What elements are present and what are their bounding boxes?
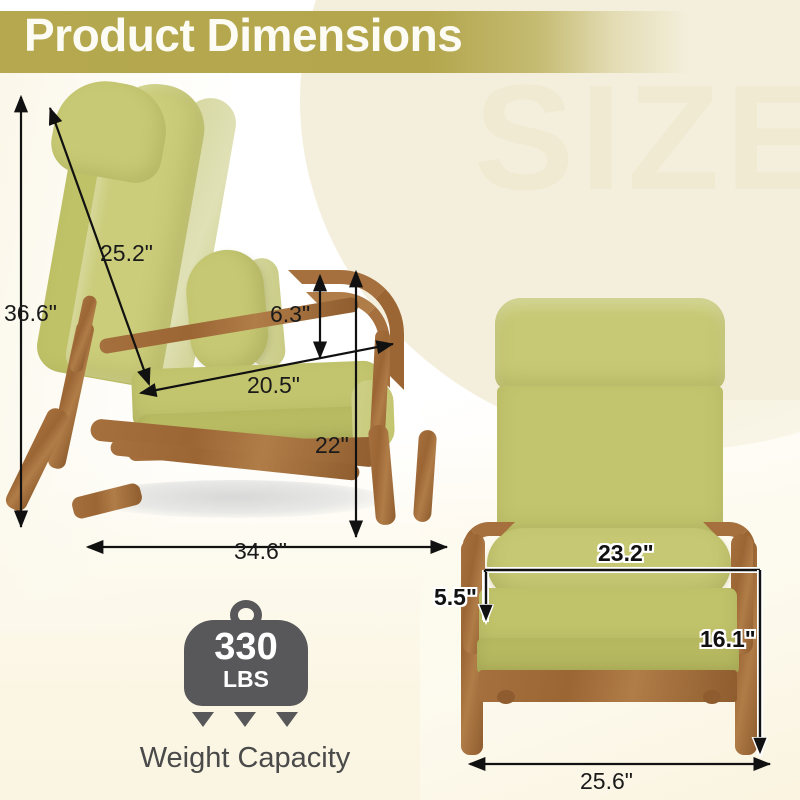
down-triangle-icon-3 [276, 712, 298, 727]
side-chair-lumbar-pillow [183, 247, 271, 375]
dim-label-overall-width: 25.6" [580, 768, 633, 795]
weight-arrow-triangles [170, 712, 320, 734]
dim-label-backrest-height: 25.2" [100, 240, 153, 267]
front-chair-right-foot [703, 690, 721, 704]
side-chair-rear-leg-secondary [413, 429, 437, 522]
weight-capacity-caption: Weight Capacity [68, 742, 422, 775]
weight-icon: 330 LBS [170, 600, 320, 710]
weight-capacity-block: 330 LBS Weight Capacity [130, 600, 360, 780]
down-triangle-icon-2 [234, 712, 256, 727]
side-view-chair [20, 80, 450, 540]
down-triangle-icon-1 [192, 712, 214, 727]
side-chair-front-foot [70, 482, 143, 520]
dim-label-seat-height: 16.1" [700, 626, 756, 653]
weight-capacity-number: 330 [184, 628, 308, 666]
front-chair-headrest [495, 298, 725, 390]
front-chair-seat-apron [479, 670, 737, 702]
front-view-chair [455, 290, 785, 760]
infographic-canvas: SIZE Product Dimensions [0, 0, 800, 800]
front-chair-backrest [497, 386, 723, 536]
front-chair-left-foot [497, 690, 515, 704]
page-title: Product Dimensions [24, 12, 462, 58]
dim-label-overall-height: 36.6" [4, 300, 57, 327]
dim-label-seat-depth: 20.5" [247, 372, 300, 399]
dim-label-seat-width: 23.2" [598, 540, 654, 567]
size-watermark-text: SIZE [474, 62, 800, 212]
dim-label-overall-depth: 34.6" [234, 538, 287, 565]
dim-label-arm-clearance: 6.3" [270, 301, 310, 328]
dim-label-cushion-thickness: 5.5" [434, 584, 477, 611]
dim-label-back-height-from-floor: 22" [315, 432, 349, 459]
weight-capacity-unit: LBS [184, 668, 308, 691]
